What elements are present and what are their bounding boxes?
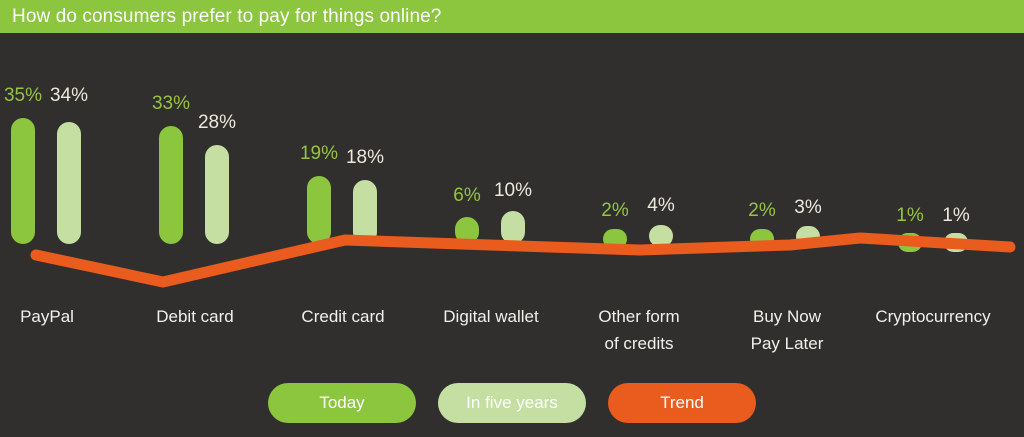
category-label-other-form: Other form of credits (554, 303, 724, 357)
page-title: How do consumers prefer to pay for thing… (12, 6, 441, 28)
bar-future[interactable] (353, 180, 377, 244)
bar-today[interactable] (11, 118, 35, 244)
bar-group-cryptocurrency: 1% 1% (888, 33, 1024, 303)
bar-group-credit-card: 19% 18% (296, 33, 442, 303)
bar-future[interactable] (501, 211, 525, 244)
legend-label: Trend (660, 393, 704, 413)
bar-today[interactable] (307, 176, 331, 244)
bar-today[interactable] (750, 229, 774, 249)
bar-group-other-form-of-credits: 2% 4% (592, 33, 738, 303)
bar-value-future: 4% (631, 195, 691, 217)
bar-value-future: 28% (187, 112, 247, 134)
bar-future[interactable] (796, 226, 820, 247)
bar-future[interactable] (649, 225, 673, 247)
category-label-buy-now-pay-later: Buy Now Pay Later (702, 303, 872, 357)
bar-today[interactable] (898, 233, 922, 252)
bar-value-future: 1% (926, 205, 986, 227)
bar-value-future: 34% (39, 85, 99, 107)
legend-item-in-five-years[interactable]: In five years (438, 383, 586, 423)
category-label-cryptocurrency: Cryptocurrency (848, 303, 1018, 330)
bar-today[interactable] (159, 126, 183, 244)
bar-future[interactable] (205, 145, 229, 244)
plot-area: 35% 34% 33% 28% 19% 18% 6% 10% 2 (0, 33, 1024, 303)
bar-value-future: 3% (778, 197, 838, 219)
legend-label: Today (319, 393, 364, 413)
bar-group-buy-now-pay-later: 2% 3% (740, 33, 886, 303)
legend-label: In five years (466, 393, 558, 413)
chart-container: How do consumers prefer to pay for thing… (0, 0, 1024, 437)
bar-today[interactable] (603, 229, 627, 249)
category-label-debit-card: Debit card (110, 303, 280, 330)
category-label-credit-card: Credit card (258, 303, 428, 330)
category-label-digital-wallet: Digital wallet (406, 303, 576, 330)
bar-today[interactable] (455, 217, 479, 244)
bar-value-future: 10% (483, 180, 543, 202)
bar-group-debit-card: 33% 28% (148, 33, 294, 303)
bar-value-future: 18% (335, 147, 395, 169)
legend-item-trend[interactable]: Trend (608, 383, 756, 423)
bar-future[interactable] (944, 233, 968, 252)
bar-group-paypal: 35% 34% (0, 33, 146, 303)
category-axis: PayPal Debit card Credit card Digital wa… (0, 303, 1024, 365)
legend-item-today[interactable]: Today (268, 383, 416, 423)
bar-group-digital-wallet: 6% 10% (444, 33, 590, 303)
title-bar: How do consumers prefer to pay for thing… (0, 0, 1024, 33)
legend: Today In five years Trend (0, 381, 1024, 425)
bar-future[interactable] (57, 122, 81, 244)
